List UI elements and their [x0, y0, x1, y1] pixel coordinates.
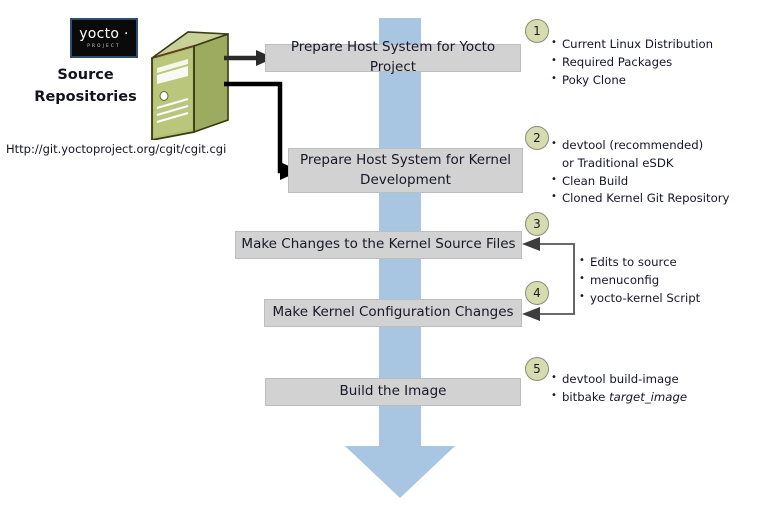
process-box-step-3[interactable]: Make Changes to the Kernel Source Files [235, 231, 522, 259]
source-label-line1: Source [28, 65, 143, 87]
process-box-step-2[interactable]: Prepare Host System for Kernel Developme… [288, 148, 523, 193]
process-box-step-4[interactable]: Make Kernel Configuration Changes [264, 299, 522, 327]
list-item: Edits to source [579, 254, 700, 272]
logo-subtext: PROJECT [87, 44, 121, 48]
main-flow-arrow-head [345, 446, 455, 498]
bitbake-target-argument: target_image [609, 390, 687, 404]
bullet-list-steps-3-4: Edits to source menuconfig yocto-kernel … [579, 254, 700, 307]
process-box-step-1[interactable]: Prepare Host System for Yocto Project [265, 44, 521, 72]
source-repositories-label: Source Repositories [28, 65, 143, 109]
step-badge-1: 1 [525, 19, 549, 43]
list-item: yocto-kernel Script [579, 290, 700, 308]
diagram-canvas: yocto · PROJECT Source Repositories Http… [0, 0, 769, 517]
list-item: devtool build-image [551, 371, 687, 389]
list-item: menuconfig [579, 272, 700, 290]
yocto-project-logo: yocto · PROJECT [70, 18, 138, 58]
bullet-list-step-1: Current Linux Distribution Required Pack… [551, 36, 713, 89]
list-item: devtool (recommended) or Traditional eSD… [551, 137, 714, 173]
logo-wordmark: yocto · [79, 27, 129, 41]
list-item: Required Packages [551, 54, 713, 72]
list-item: Clean Build [551, 173, 729, 191]
process-box-step-5[interactable]: Build the Image [265, 378, 521, 406]
step-badge-5: 5 [525, 357, 549, 381]
source-repository-url: Http://git.yoctoproject.org/cgit/cgit.cg… [6, 142, 226, 156]
bitbake-command-prefix: bitbake [562, 390, 609, 404]
step-badge-2: 2 [525, 126, 549, 150]
list-item: bitbake target_image [551, 389, 687, 407]
step-badge-4: 4 [525, 281, 549, 305]
list-item: Cloned Kernel Git Repository [551, 190, 729, 208]
bullet-list-step-2: devtool (recommended) or Traditional eSD… [551, 137, 729, 208]
list-item: Current Linux Distribution [551, 36, 713, 54]
step-badge-3: 3 [525, 212, 549, 236]
list-item: Poky Clone [551, 72, 713, 90]
server-tower-icon [138, 28, 234, 140]
source-label-line2: Repositories [28, 87, 143, 109]
bullet-list-step-5: devtool build-image bitbake target_image [551, 371, 687, 407]
